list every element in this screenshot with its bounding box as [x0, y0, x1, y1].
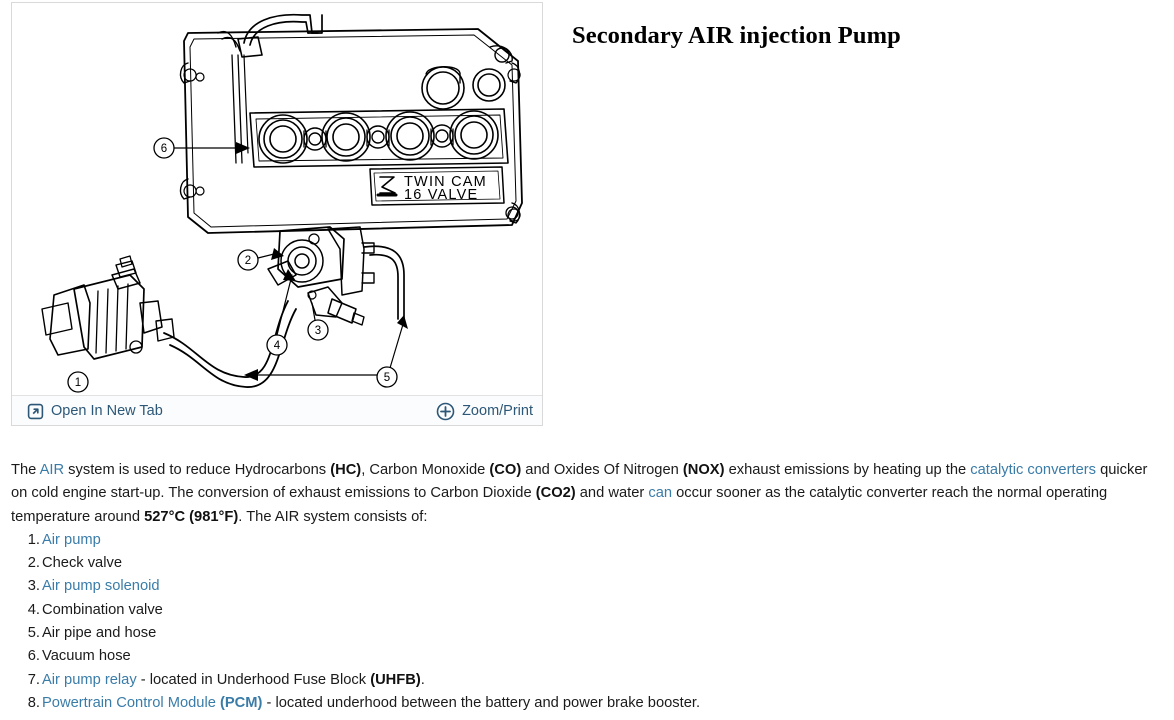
figure-toolbar: Open In New Tab Zoom/Print: [12, 395, 542, 425]
air-injection-diagram: 1 2 3 4 5 6 TWIN CAM 16 VALVE: [12, 3, 542, 395]
para-seg-1: The: [11, 462, 40, 478]
para-seg-4: and Oxides Of Nitrogen: [521, 462, 683, 478]
part-link-air-pump[interactable]: Air pump: [42, 532, 101, 548]
abbr-co: (CO): [489, 462, 521, 478]
para-seg-7: and water: [576, 485, 649, 501]
plus-circle-icon: [436, 402, 455, 421]
para-seg-5: exhaust emissions by heating up the: [725, 462, 971, 478]
list-item: Air pump solenoid: [11, 575, 1163, 598]
callout-label-6: 6: [161, 143, 167, 155]
list-item: Vacuum hose: [11, 645, 1163, 668]
list-item: Air pump: [11, 529, 1163, 552]
parts-list: Air pump Check valve Air pump solenoid C…: [11, 529, 1163, 715]
para-seg-3: , Carbon Monoxide: [361, 462, 489, 478]
part-label-check-valve: Check valve: [42, 555, 122, 571]
open-in-new-tab-icon: [27, 403, 44, 420]
abbr-uhfb: (UHFB): [370, 672, 421, 688]
list-item: Air pump relay - located in Underhood Fu…: [11, 669, 1163, 692]
callout-label-3: 3: [315, 325, 321, 337]
abbr-hc: (HC): [330, 462, 361, 478]
part-rest-tail-7: .: [421, 672, 425, 688]
list-item: Check valve: [11, 552, 1163, 575]
link-catalytic-converters[interactable]: catalytic converters: [970, 462, 1096, 478]
open-in-new-tab-button[interactable]: Open In New Tab: [27, 396, 163, 426]
diagram-canvas: 1 2 3 4 5 6 TWIN CAM 16 VALVE: [12, 3, 542, 395]
open-in-new-tab-label: Open In New Tab: [51, 404, 163, 419]
top-area: 1 2 3 4 5 6 TWIN CAM 16 VALVE: [0, 0, 1174, 430]
abbr-co2: (CO2): [536, 485, 576, 501]
part-link-label-8: Powertrain Control Module: [42, 695, 220, 711]
zoom-print-label: Zoom/Print: [462, 404, 533, 419]
para-seg-9: . The AIR system consists of:: [238, 509, 427, 525]
list-item: Powertrain Control Module (PCM) - locate…: [11, 692, 1163, 715]
part-link-air-pump-solenoid[interactable]: Air pump solenoid: [42, 578, 160, 594]
abbr-pcm: (PCM): [220, 695, 262, 711]
callout-label-4: 4: [274, 340, 281, 352]
figure-panel: 1 2 3 4 5 6 TWIN CAM 16 VALVE: [11, 2, 543, 426]
part-label-combination-valve: Combination valve: [42, 602, 163, 618]
callout-label-2: 2: [245, 255, 251, 267]
link-can[interactable]: can: [648, 485, 672, 501]
part-link-powertrain-control-module[interactable]: Powertrain Control Module (PCM): [42, 695, 262, 711]
callout-label-1: 1: [75, 377, 81, 389]
link-air[interactable]: AIR: [40, 462, 64, 478]
operating-temperature: 527°C (981°F): [144, 509, 238, 525]
intro-paragraph: The AIR system is used to reduce Hydroca…: [11, 459, 1163, 529]
callout-label-5: 5: [384, 372, 390, 384]
part-rest-8: - located underhood between the battery …: [262, 695, 700, 711]
zoom-print-button[interactable]: Zoom/Print: [436, 396, 533, 426]
list-item: Combination valve: [11, 599, 1163, 622]
part-link-air-pump-relay[interactable]: Air pump relay: [42, 672, 137, 688]
body-copy: The AIR system is used to reduce Hydroca…: [11, 459, 1163, 715]
list-item: Air pipe and hose: [11, 622, 1163, 645]
page-title: Secondary AIR injection Pump: [572, 22, 901, 50]
part-rest-7: - located in Underhood Fuse Block: [137, 672, 371, 688]
engine-cover-badge-line2: 16 VALVE: [404, 187, 478, 203]
abbr-nox: (NOX): [683, 462, 725, 478]
part-label-air-pipe-and-hose: Air pipe and hose: [42, 625, 156, 641]
para-seg-2: system is used to reduce Hydrocarbons: [64, 462, 330, 478]
part-label-vacuum-hose: Vacuum hose: [42, 648, 131, 664]
